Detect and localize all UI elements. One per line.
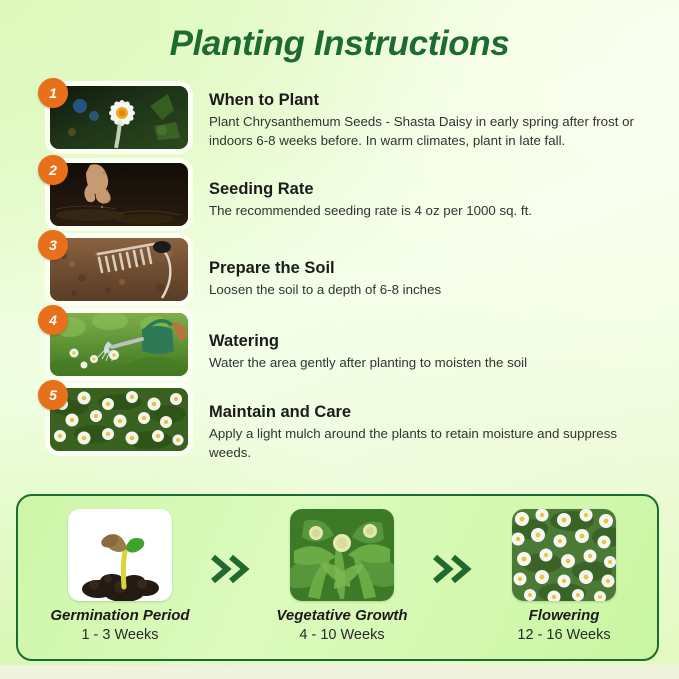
step-description: Water the area gently after planting to …	[209, 354, 655, 373]
page-title: Planting Instructions	[0, 24, 679, 64]
step-description: Apply a light mulch around the plants to…	[209, 425, 655, 463]
step-thumbnail-wrap: 3	[38, 238, 188, 301]
step-title: Prepare the Soil	[209, 258, 655, 279]
step-item: 1 When to Plant Plant Chrysanthemum Seed…	[0, 86, 679, 150]
step-text-block: Watering Water the area gently after pla…	[188, 313, 679, 373]
step-item: 4 Watering Water the area gently after p…	[0, 313, 679, 376]
step-text-block: Seeding Rate The recommended seeding rat…	[188, 163, 679, 221]
step-title: Maintain and Care	[209, 402, 655, 423]
step-number-badge: 1	[38, 78, 68, 108]
timeline-stage: Vegetative Growth 4 - 10 Weeks	[258, 509, 426, 646]
timeline-stage: Germination Period 1 - 3 Weeks	[36, 509, 204, 646]
hand-sowing-seeds-in-soil-photo	[50, 163, 188, 226]
step-text-block: Prepare the Soil Loosen the soil to a de…	[188, 238, 679, 300]
step-description: The recommended seeding rate is 4 oz per…	[209, 202, 655, 221]
step-item: 2 Seeding Rate The recommended seeding r…	[0, 163, 679, 226]
double-chevron-right-icon	[204, 554, 258, 584]
step-title: Seeding Rate	[209, 179, 655, 200]
step-title: When to Plant	[209, 90, 655, 111]
stage-name: Flowering	[480, 607, 648, 625]
step-thumbnail-wrap: 2	[38, 163, 188, 226]
step-title: Watering	[209, 331, 655, 352]
rake-loosening-soil-photo	[50, 238, 188, 301]
stage-name: Vegetative Growth	[258, 607, 426, 625]
white-daisy-flower-photo	[50, 86, 188, 149]
double-chevron-right-icon	[426, 554, 480, 584]
step-thumbnail-wrap: 1	[38, 86, 188, 149]
green-leafy-plant-photo	[290, 509, 394, 601]
timeline-stage: Flowering 12 - 16 Weeks	[480, 509, 648, 646]
step-description: Loosen the soil to a depth of 6-8 inches	[209, 281, 655, 300]
field-of-white-daisies-photo	[50, 388, 188, 451]
stage-duration: 12 - 16 Weeks	[480, 626, 648, 646]
step-description: Plant Chrysanthemum Seeds - Shasta Daisy…	[209, 113, 655, 151]
watering-can-watering-daisies-photo	[50, 313, 188, 376]
step-thumbnail-wrap: 4	[38, 313, 188, 376]
blooming-daisy-field-photo	[512, 509, 616, 601]
stage-name: Germination Period	[36, 607, 204, 625]
step-item: 5 Maintain and Care Apply a light mulch …	[0, 388, 679, 462]
planting-instructions-infographic: Planting Instructions	[0, 0, 679, 679]
step-item: 3 Prepare the Soil Loosen the soil to a …	[0, 238, 679, 301]
bottom-strip	[0, 665, 679, 679]
sprouting-seedling-photo	[68, 509, 172, 601]
stage-duration: 1 - 3 Weeks	[36, 626, 204, 646]
stage-duration: 4 - 10 Weeks	[258, 626, 426, 646]
steps-list: 1 When to Plant Plant Chrysanthemum Seed…	[0, 86, 679, 468]
step-text-block: When to Plant Plant Chrysanthemum Seeds …	[188, 86, 679, 150]
step-thumbnail-wrap: 5	[38, 388, 188, 451]
step-text-block: Maintain and Care Apply a light mulch ar…	[188, 388, 679, 462]
growth-timeline-panel: Germination Period 1 - 3 Weeks	[16, 494, 659, 661]
